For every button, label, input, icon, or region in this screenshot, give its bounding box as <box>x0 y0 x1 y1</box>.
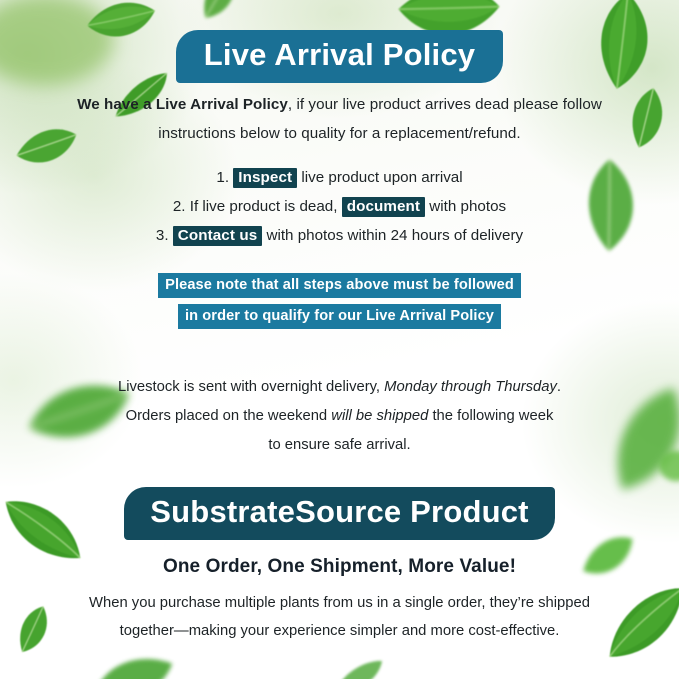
shipping-line2-emphasis: will be shipped <box>331 408 428 424</box>
step-before: If live product is dead, <box>186 198 342 215</box>
step-after: live product upon arrival <box>297 169 462 186</box>
product-outro-line1: When you purchase multiple plants from u… <box>89 595 590 611</box>
step-highlight-document: document <box>342 197 425 217</box>
shipping-line2-a: Orders placed on the weekend <box>126 408 332 424</box>
list-item: 2. If live product is dead, document wit… <box>40 192 639 221</box>
step-highlight-contact-us: Contact us <box>173 226 262 246</box>
live-arrival-policy-banner-row: Live Arrival Policy <box>40 30 639 83</box>
substratesource-product-banner-row: SubstrateSource Product <box>40 487 639 540</box>
step-number: 3. <box>156 227 169 244</box>
shipping-line2-b: the following week <box>428 408 553 424</box>
product-tagline-row: One Order, One Shipment, More Value! <box>40 556 639 578</box>
policy-intro-row: We have a Live Arrival Policy, if your l… <box>40 90 639 148</box>
shipping-line1-a: Livestock is sent with overnight deliver… <box>118 379 384 395</box>
substratesource-product-banner: SubstrateSource Product <box>124 487 554 540</box>
policy-note-line-2: in order to qualify for our Live Arrival… <box>178 304 501 329</box>
policy-document: Live Arrival Policy We have a Live Arriv… <box>0 0 679 679</box>
shipping-info-paragraph: Livestock is sent with overnight deliver… <box>90 373 590 460</box>
list-item: 1. Inspect live product upon arrival <box>40 163 639 192</box>
policy-intro-line2: instructions below to quality for a repl… <box>158 125 520 142</box>
shipping-line3: to ensure safe arrival. <box>268 437 410 453</box>
policy-steps-list: 1. Inspect live product upon arrival 2. … <box>40 163 639 251</box>
shipping-info-row: Livestock is sent with overnight deliver… <box>40 373 639 460</box>
list-item: 3. Contact us with photos within 24 hour… <box>40 221 639 250</box>
policy-intro-bold: We have a Live Arrival Policy <box>77 96 288 113</box>
policy-note-line-2-wrap: in order to qualify for our Live Arrival… <box>40 304 639 329</box>
step-after: with photos within 24 hours of delivery <box>262 227 523 244</box>
policy-note-row: Please note that all steps above must be… <box>40 273 639 329</box>
policy-intro-rest: , if your live product arrives dead plea… <box>288 96 602 113</box>
policy-note-line-1: Please note that all steps above must be… <box>158 273 521 298</box>
step-number: 2. <box>173 198 186 215</box>
step-highlight-inspect: Inspect <box>233 168 297 188</box>
policy-intro-paragraph: We have a Live Arrival Policy, if your l… <box>75 90 605 148</box>
product-outro-line2: together—making your experience simpler … <box>120 623 560 639</box>
product-outro-row: When you purchase multiple plants from u… <box>40 590 639 646</box>
product-outro-paragraph: When you purchase multiple plants from u… <box>80 590 600 646</box>
policy-note-line-1-wrap: Please note that all steps above must be… <box>40 273 639 298</box>
step-after: with photos <box>425 198 506 215</box>
policy-steps-row: 1. Inspect live product upon arrival 2. … <box>40 163 639 251</box>
shipping-line1-emphasis: Monday through Thursday <box>384 379 557 395</box>
shipping-line1-b: . <box>557 379 561 395</box>
step-number: 1. <box>216 169 229 186</box>
product-tagline: One Order, One Shipment, More Value! <box>40 556 639 578</box>
live-arrival-policy-banner: Live Arrival Policy <box>176 30 503 83</box>
